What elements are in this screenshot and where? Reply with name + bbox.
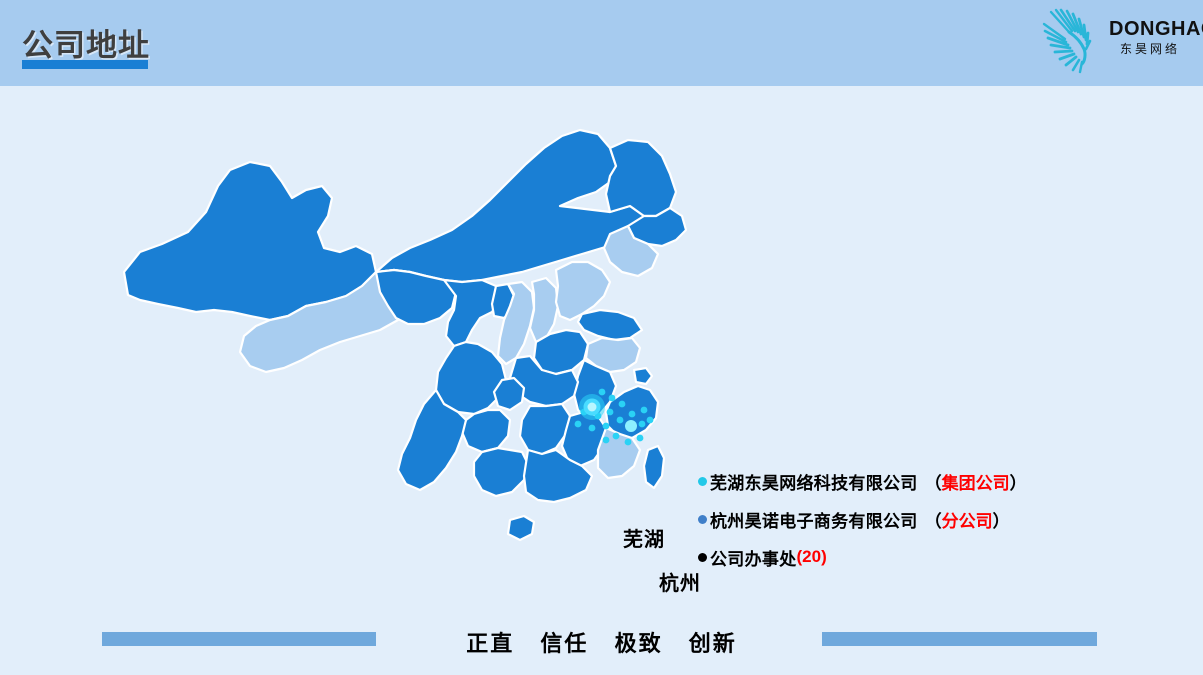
map-label-hangzhou: 杭州 <box>659 567 701 596</box>
legend-paren-open: （ <box>925 469 942 494</box>
legend-item-label: 公司办事处 <box>710 545 797 570</box>
province-guangxi <box>474 448 528 496</box>
province-heilongjiang <box>606 140 676 216</box>
title-underline-bar <box>22 60 148 69</box>
hangzhou-marker <box>625 420 637 432</box>
footer-slogan: 正直 信任 极致 创新 <box>0 626 1203 658</box>
wuhu-marker <box>579 394 605 420</box>
province-shanghai <box>634 368 652 384</box>
legend-item-label: 芜湖东昊网络科技有限公司 <box>710 469 918 494</box>
slogan-word: 信任 <box>540 626 588 658</box>
province-gansu <box>444 280 500 346</box>
logo-subtitle: 东昊网络 <box>1109 40 1191 58</box>
legend-item-branch-company: 杭州昊诺电子商务有限公司 （ 分公司 ） <box>698 500 1098 538</box>
logo-name: DONGHAO <box>1109 18 1193 40</box>
slogan-word: 正直 <box>466 626 514 658</box>
province-sichuan <box>436 342 506 414</box>
province-taiwan <box>644 446 664 488</box>
slogan-word: 创新 <box>689 626 737 658</box>
legend-bullet-icon <box>698 515 707 524</box>
logo-text: DONGHAO 东昊网络 <box>1109 18 1193 58</box>
legend-paren-close: ） <box>993 507 1010 532</box>
company-logo: DONGHAO 东昊网络 <box>1039 4 1191 76</box>
legend-paren-close: ） <box>1010 469 1027 494</box>
feather-wing-icon <box>1039 6 1105 74</box>
china-map-container: 芜湖 杭州 <box>110 120 700 610</box>
province-xinjiang <box>124 162 376 320</box>
legend-item-emphasis: 分公司 <box>942 507 993 532</box>
province-shandong <box>578 310 642 340</box>
legend-bullet-icon <box>698 553 707 562</box>
header-band <box>0 0 1203 86</box>
legend-item-emphasis: (20) <box>797 547 827 567</box>
page-title: 公司地址 <box>22 20 150 65</box>
province-hainan <box>508 516 534 540</box>
map-label-wuhu: 芜湖 <box>623 523 665 552</box>
legend: 芜湖东昊网络科技有限公司 （ 集团公司 ） 杭州昊诺电子商务有限公司 （ 分公司… <box>698 462 1098 576</box>
legend-item-offices: 公司办事处 (20) <box>698 538 1098 576</box>
legend-paren-open: （ <box>925 507 942 532</box>
legend-item-group-company: 芜湖东昊网络科技有限公司 （ 集团公司 ） <box>698 462 1098 500</box>
province-inner-mongolia <box>376 130 644 282</box>
legend-item-label: 杭州昊诺电子商务有限公司 <box>710 507 918 532</box>
province-guizhou <box>462 410 510 452</box>
legend-item-emphasis: 集团公司 <box>942 469 1010 494</box>
china-provinces-map <box>110 120 700 610</box>
legend-bullet-icon <box>698 477 707 486</box>
slogan-word: 极致 <box>615 626 663 658</box>
